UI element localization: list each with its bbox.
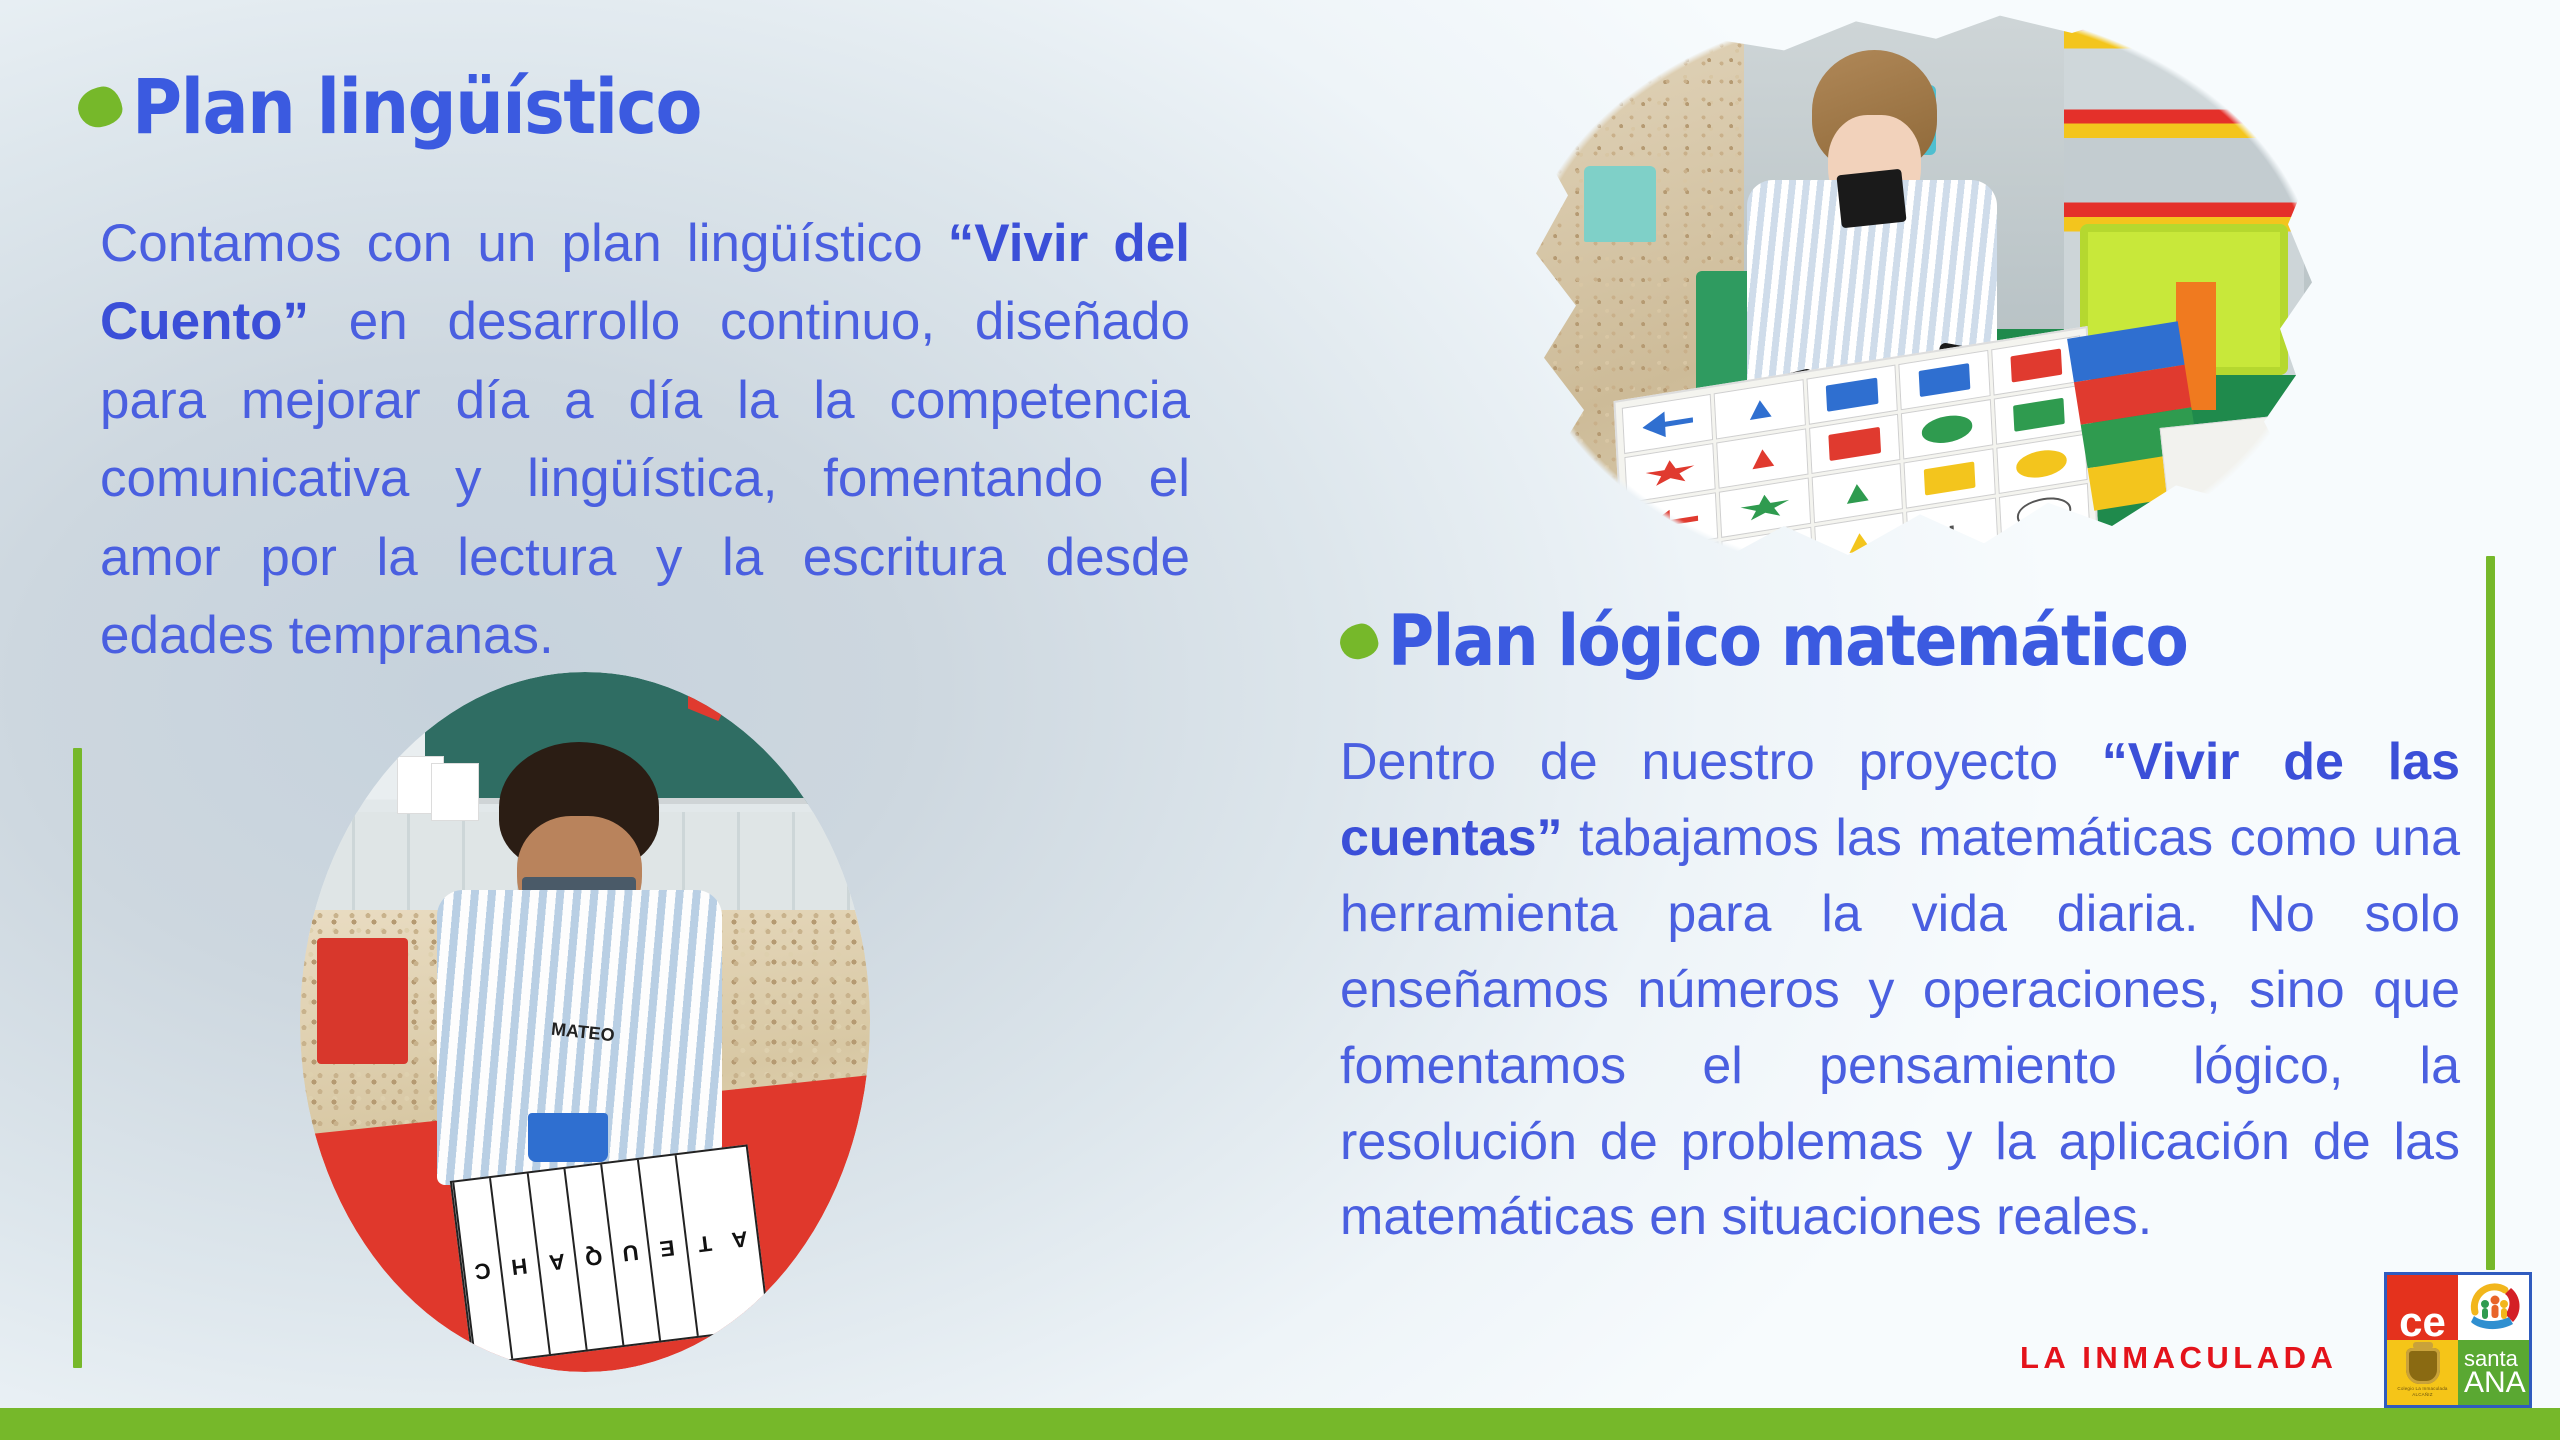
logo-ana-label: ANA	[2464, 1369, 2526, 1397]
colegio-la-inmaculada-santa-ana-logo: ce Colegio La Inmaculada ALCAÑIZ santa A…	[2384, 1272, 2532, 1408]
photo-child-boy	[437, 742, 722, 1176]
shape-cell	[1630, 541, 1722, 584]
circle-shape-icon	[1921, 412, 1973, 446]
bottom-green-band	[0, 1408, 2560, 1440]
photo-red-chair	[317, 938, 408, 1064]
logo-cell-santa-ana: santa ANA	[2458, 1340, 2529, 1405]
photo-torn-mask	[1520, 4, 2320, 584]
school-crest-icon	[2406, 1348, 2440, 1384]
green-vertical-rule-left	[73, 748, 82, 1368]
square-shape-icon	[2011, 348, 2063, 382]
para-left-part-1: Contamos con un plan lingüístico	[100, 214, 948, 273]
circle-shape-icon	[2016, 493, 2072, 531]
photo-stool	[1584, 166, 1656, 241]
heading-plan-logico-matematico-label: Plan lógico matemático	[1388, 600, 2187, 682]
triangle-shape-icon	[1749, 398, 1772, 420]
green-blob-icon	[1338, 621, 1381, 661]
photo-card-corner	[2160, 412, 2319, 556]
square-shape-icon	[1918, 363, 1970, 397]
paragraph-plan-logico-matematico: Dentro de nuestro proyecto “Vivir de las…	[1340, 725, 2460, 1256]
photo-boy-word-card: MATEO CHAQUETA	[300, 672, 870, 1372]
family-circle-icon	[2465, 1282, 2523, 1334]
square-shape-icon	[1829, 427, 1881, 461]
logo-crest-label: Colegio La Inmaculada ALCAÑIZ	[2387, 1386, 2458, 1397]
photo-blue-illustration	[528, 1113, 608, 1162]
heading-plan-logico-matematico: Plan lógico matemático	[1340, 600, 2187, 682]
heading-plan-linguistico-label: Plan lingüístico	[132, 62, 701, 151]
triangle-shape-icon	[1950, 525, 1954, 530]
brand-name-la-inmaculada: LA INMACULADA	[2020, 1340, 2337, 1376]
photo-child-collar	[1837, 169, 1907, 228]
square-shape-icon	[1826, 377, 1878, 411]
green-blob-icon	[75, 84, 124, 130]
arrow-shape-icon	[1649, 554, 1701, 584]
paragraph-plan-linguistico: Contamos con un plan lingüístico “Vivir …	[100, 205, 1190, 676]
green-vertical-rule-right	[2486, 556, 2495, 1270]
photo-word-card: CHAQUETA	[449, 1144, 770, 1365]
arrow-shape-icon	[1642, 407, 1694, 441]
arrow-shape-icon	[1647, 505, 1699, 539]
photo-girl-shapes-board	[1520, 4, 2320, 584]
photo-circle-mask: MATEO CHAQUETA	[300, 672, 870, 1372]
star-shape-icon	[1742, 540, 1794, 574]
logo-ce-label: ce	[2399, 1304, 2446, 1340]
triangle-shape-icon	[1849, 531, 1872, 553]
para-right-part-1: Dentro de nuestro proyecto	[1340, 733, 2102, 791]
logo-cell-ce: ce	[2387, 1275, 2458, 1340]
logo-cell-crest: Colegio La Inmaculada ALCAÑIZ	[2387, 1340, 2458, 1405]
slide-root: Plan lingüístico Contamos con un plan li…	[0, 0, 2560, 1440]
star-shape-icon	[1644, 456, 1696, 490]
square-shape-icon	[1924, 461, 1976, 495]
star-shape-icon	[1739, 490, 1791, 524]
triangle-shape-icon	[1846, 482, 1869, 504]
heading-plan-linguistico: Plan lingüístico	[78, 62, 701, 151]
circle-shape-icon	[2016, 447, 2068, 481]
logo-cell-family-icon	[2458, 1275, 2529, 1340]
square-shape-icon	[2013, 397, 2065, 431]
para-right-part-3: tabajamos las matemáticas como una herra…	[1340, 809, 2460, 1247]
triangle-shape-icon	[1751, 447, 1774, 469]
